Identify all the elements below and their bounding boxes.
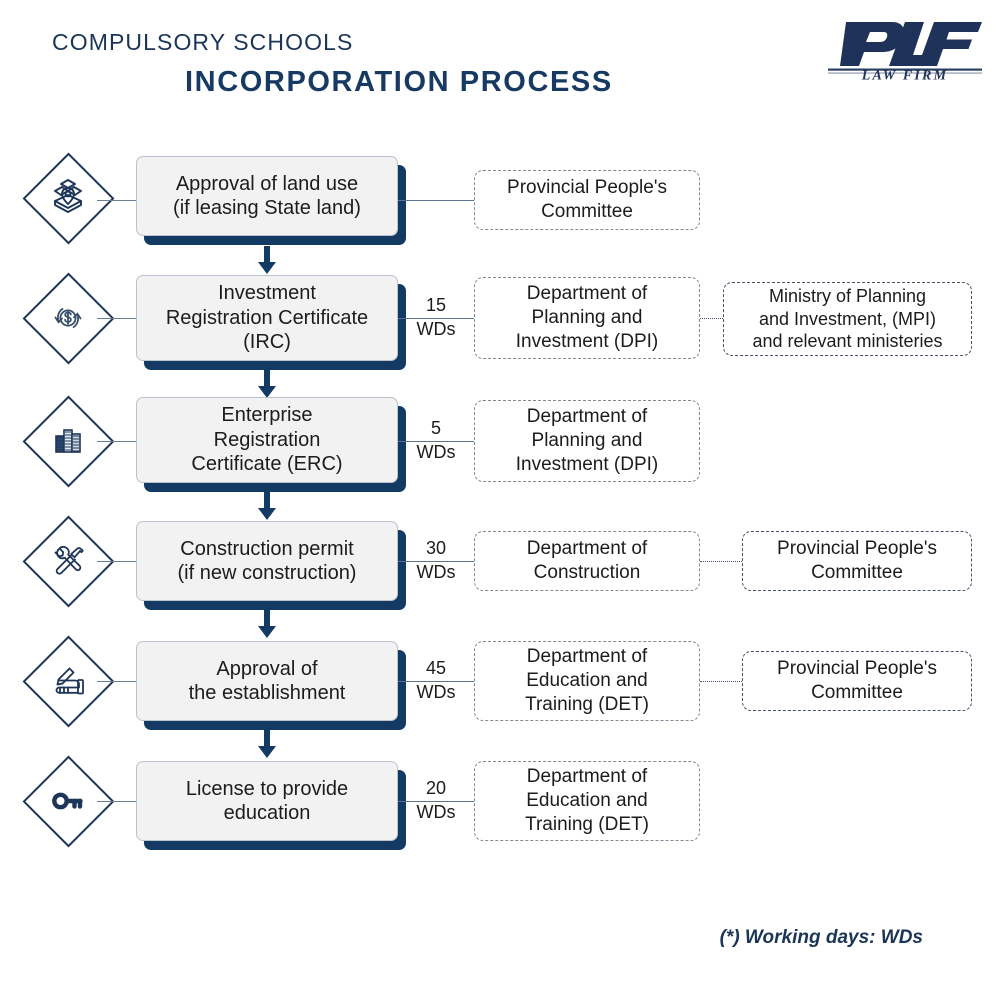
- days-number: 20: [410, 779, 462, 798]
- authority-box-3[interactable]: Department of Planning and Investment (D…: [474, 400, 700, 482]
- days-label-5: 45 WDs: [410, 659, 462, 702]
- days-unit: WDs: [410, 683, 462, 702]
- step-box-label: Investment Registration Certificate (IRC…: [136, 275, 398, 361]
- days-number: 15: [410, 296, 462, 315]
- authority-link-2: [700, 318, 723, 319]
- icon-connector-6: [97, 801, 137, 802]
- flow-arrow-5: [262, 730, 272, 758]
- svg-text:LAW FIRM: LAW FIRM: [861, 69, 948, 81]
- page-subtitle: COMPULSORY SCHOOLS: [52, 29, 353, 56]
- step-box-license[interactable]: License to provide education: [136, 761, 398, 841]
- days-number: 30: [410, 539, 462, 558]
- step-box-erc[interactable]: Enterprise Registration Certificate (ERC…: [136, 397, 398, 483]
- days-label-3: 5 WDs: [410, 419, 462, 462]
- authority-box-1[interactable]: Provincial People's Committee: [474, 170, 700, 230]
- step-box-construction[interactable]: Construction permit (if new construction…: [136, 521, 398, 601]
- authority-box-2b[interactable]: Ministry of Planning and Investment, (MP…: [723, 282, 972, 356]
- step-box-irc[interactable]: Investment Registration Certificate (IRC…: [136, 275, 398, 361]
- days-number: 5: [410, 419, 462, 438]
- icon-connector-4: [97, 561, 137, 562]
- authority-link-4: [700, 561, 742, 562]
- flow-arrow-1: [262, 246, 272, 274]
- days-label-6: 20 WDs: [410, 779, 462, 822]
- days-unit: WDs: [410, 320, 462, 339]
- icon-connector-5: [97, 681, 137, 682]
- page-title: INCORPORATION PROCESS: [185, 66, 613, 99]
- authority-box-6[interactable]: Department of Education and Training (DE…: [474, 761, 700, 841]
- days-number: 45: [410, 659, 462, 678]
- days-label-4: 30 WDs: [410, 539, 462, 582]
- step-box-establishment[interactable]: Approval of the establishment: [136, 641, 398, 721]
- step-box-label: Construction permit (if new construction…: [136, 521, 398, 601]
- step-box-label: Approval of the establishment: [136, 641, 398, 721]
- step-box-land-use[interactable]: Approval of land use (if leasing State l…: [136, 156, 398, 236]
- icon-connector-2: [97, 318, 137, 319]
- icon-connector-3: [97, 441, 137, 442]
- step-icon-land-use: [22, 152, 114, 244]
- authority-connector-1: [398, 200, 474, 201]
- flow-arrow-3: [262, 492, 272, 520]
- flow-arrow-2: [262, 370, 272, 398]
- flow-arrow-4: [262, 610, 272, 638]
- step-box-label: Approval of land use (if leasing State l…: [136, 156, 398, 236]
- authority-box-2[interactable]: Department of Planning and Investment (D…: [474, 277, 700, 359]
- authority-box-5b[interactable]: Provincial People's Committee: [742, 651, 972, 711]
- footnote: (*) Working days: WDs: [720, 927, 923, 949]
- step-box-label: License to provide education: [136, 761, 398, 841]
- authority-box-4b[interactable]: Provincial People's Committee: [742, 531, 972, 591]
- days-unit: WDs: [410, 803, 462, 822]
- icon-connector-1: [97, 200, 137, 201]
- step-box-label: Enterprise Registration Certificate (ERC…: [136, 397, 398, 483]
- plf-law-firm-logo: LAW FIRM: [806, 18, 982, 80]
- days-unit: WDs: [410, 563, 462, 582]
- land-plot-icon: [22, 152, 114, 244]
- authority-box-4[interactable]: Department of Construction: [474, 531, 700, 591]
- days-label-2: 15 WDs: [410, 296, 462, 339]
- days-unit: WDs: [410, 443, 462, 462]
- authority-box-5[interactable]: Department of Education and Training (DE…: [474, 641, 700, 721]
- authority-link-5: [700, 681, 742, 682]
